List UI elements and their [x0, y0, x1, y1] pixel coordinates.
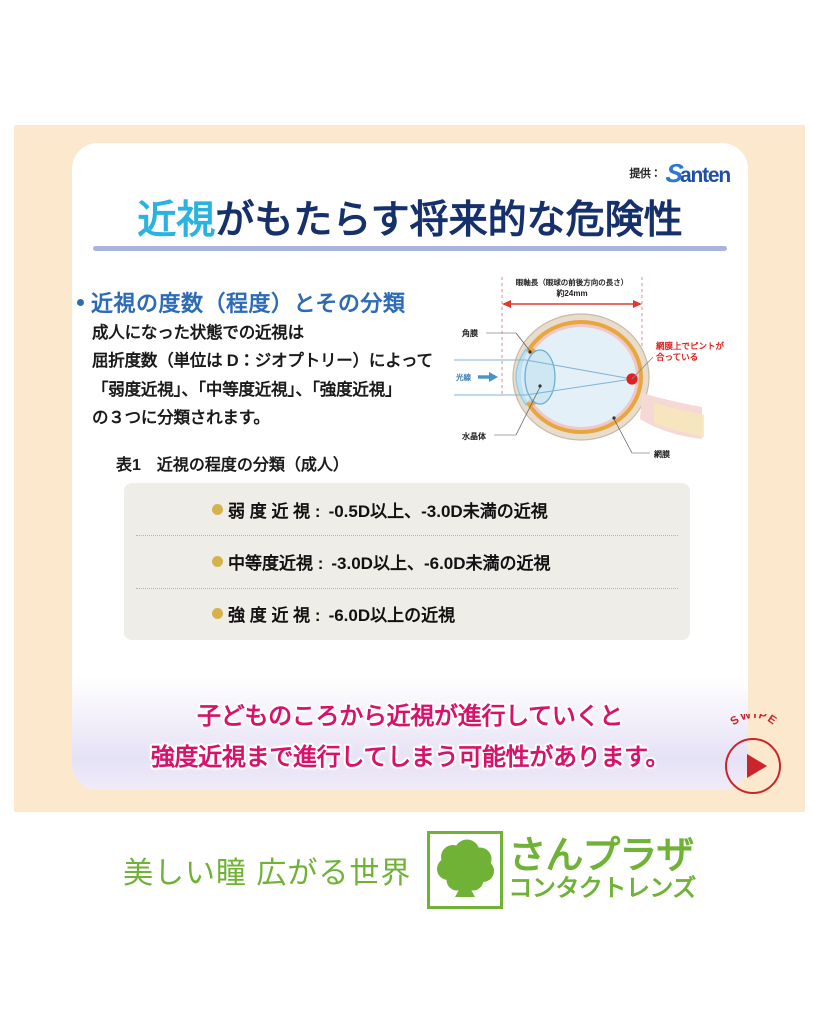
body-line: の３つに分類されます。 — [92, 404, 433, 432]
section-body-text: 成人になった状態での近視は 屈折度数（単位は D：ジオプトリー）によって 「弱度… — [92, 319, 433, 433]
row-value: -6.0D以上の近視 — [329, 601, 456, 626]
slide-title-accent: 近視 — [137, 199, 215, 242]
message-line-1: 子どものころから近視が進行していくと — [197, 696, 623, 731]
brand-name-block: さんプラザ コンタクトレンズ — [508, 838, 696, 900]
highlight-message-band: 子どものころから近視が進行していくと 強度近視まで進行してしまう可能性があります… — [72, 677, 748, 790]
slide-title: 近視がもたらす将来的な危険性 — [72, 189, 748, 245]
focus-note-line2: 合っている — [655, 352, 698, 362]
message-line-2: 強度近視まで進行してしまう可能性があります。 — [151, 737, 669, 772]
slide-card: 提供： Santen 近視がもたらす将来的な危険性 近視の度数（程度）とその分類… — [72, 143, 748, 790]
axial-length-label: 眼軸長（眼球の前後方向の長さ） — [516, 277, 629, 287]
axial-length-value: 約24mm — [555, 288, 587, 298]
focus-note-line1: 網膜上でピントが — [655, 341, 725, 351]
lens-label: 水晶体 — [461, 431, 487, 441]
tree-logo-icon — [427, 831, 503, 909]
row-value: -3.0D以上、-6.0D未満の近視 — [331, 549, 550, 574]
santen-logo-text: anten — [680, 165, 730, 186]
santen-logo-initial: S — [664, 160, 683, 186]
brand-tagline: 美しい瞳 広がる世界 — [123, 848, 411, 892]
body-line: 「弱度近視」、「中等度近視」、「強度近視」 — [92, 376, 433, 404]
santen-logo: Santen — [666, 160, 730, 186]
swipe-button[interactable]: SWIPE — [718, 714, 796, 796]
body-line: 成人になった状態での近視は — [92, 319, 433, 347]
light-ray-label: 光線 — [455, 372, 471, 382]
slide-title-rest: がもたらす将来的な危険性 — [215, 199, 682, 242]
row-bullet-icon — [212, 608, 223, 619]
footer-brand-bar: 美しい瞳 広がる世界 さんプラザ — [0, 822, 819, 917]
row-label: 弱 度 近 視 : — [228, 497, 321, 522]
row-value: -0.5D以上、-3.0D未満の近視 — [329, 497, 548, 522]
table-row: 強 度 近 視 : -6.0D以上の近視 — [124, 588, 690, 640]
body-line: 屈折度数（単位は D：ジオプトリー）によって — [92, 347, 433, 375]
brand-name-line-2: コンタクトレンズ — [508, 877, 696, 901]
title-divider-rule — [93, 246, 727, 251]
play-triangle-icon — [747, 754, 767, 778]
row-bullet-icon — [212, 504, 223, 515]
brand-name-line-1: さんプラザ — [508, 838, 696, 874]
row-label: 中等度近視 : — [228, 549, 323, 574]
bullet-dot-icon — [77, 299, 84, 306]
provider-label: 提供： — [629, 165, 661, 181]
section-heading-label: 近視の度数（程度）とその分類 — [91, 286, 405, 318]
section-heading: 近視の度数（程度）とその分類 — [77, 286, 405, 318]
table-caption: 表1 近視の程度の分類（成人） — [116, 451, 349, 475]
myopia-classification-table: 弱 度 近 視 : -0.5D以上、-3.0D未満の近視 中等度近視 : -3.… — [124, 483, 690, 640]
eye-anatomy-diagram: 眼軸長（眼球の前後方向の長さ） 約24mm — [454, 267, 754, 472]
row-label: 強 度 近 視 : — [228, 601, 321, 626]
retina-label: 網膜 — [653, 449, 670, 459]
swipe-label: SWIPE — [728, 714, 779, 728]
cornea-label: 角膜 — [461, 328, 478, 338]
provider-credit: 提供： Santen — [629, 160, 730, 186]
table-row: 中等度近視 : -3.0D以上、-6.0D未満の近視 — [124, 535, 690, 587]
row-bullet-icon — [212, 556, 223, 567]
brand-lockup: さんプラザ コンタクトレンズ — [427, 831, 696, 909]
table-row: 弱 度 近 視 : -0.5D以上、-3.0D未満の近視 — [124, 483, 690, 535]
